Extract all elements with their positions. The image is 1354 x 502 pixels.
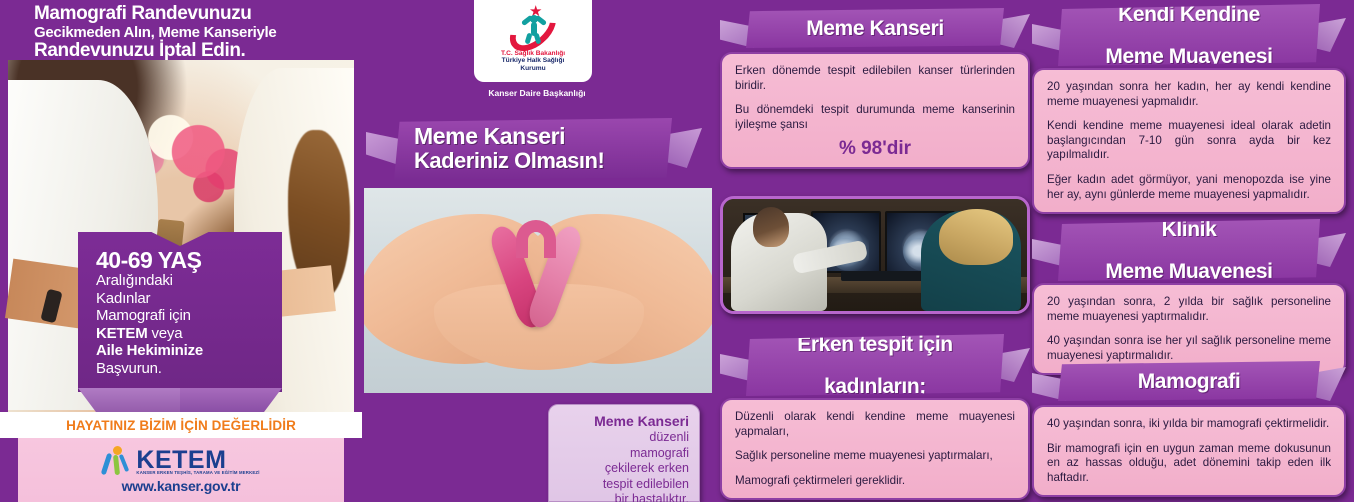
age-range-line-1: Aralığındaki xyxy=(96,272,282,290)
survival-rate-stat: % 98'dir xyxy=(735,142,1015,157)
card-title-line-1: Kendi Kendine xyxy=(1099,4,1278,25)
card-title: Erken tespit için kadınların; xyxy=(785,334,964,397)
brochure-canvas: Mamografi Randevunuzu Gecikmeden Alın, M… xyxy=(0,0,1354,502)
card-paragraph: 20 yaşından sonra her kadın, her ay kend… xyxy=(1047,80,1331,109)
card-title: Kendi Kendine Meme Muayenesi xyxy=(1093,4,1284,67)
ketem-logo-area: KETEM KANSER ERKEN TEŞHİS, TARAMA VE EĞİ… xyxy=(18,438,344,502)
card-body: 20 yaşından sonra her kadın, her ay kend… xyxy=(1032,68,1346,214)
headline-line-3: Randevunuzu İptal Edin. xyxy=(34,41,356,61)
card-paragraph: 20 yaşından sonra, 2 yılda bir sağlık pe… xyxy=(1047,295,1331,324)
card-title-line-1: Erken tespit için xyxy=(791,334,958,355)
center-note-line-2: mamografi xyxy=(559,446,689,462)
center-brochure-panel: T.C. Sağlık Bakanlığı Türkiye Halk Sağlı… xyxy=(362,0,712,502)
age-range-line-4: KETEM veya xyxy=(96,325,282,343)
slogan-text: HAYATINIZ BİZİM İÇİN DEĞERLİDİR xyxy=(66,418,296,433)
ministry-of-health-logo: T.C. Sağlık Bakanlığı Türkiye Halk Sağlı… xyxy=(474,0,592,82)
card-klinik: Klinik Meme Muayenesi 20 yaşından sonra,… xyxy=(1032,215,1346,375)
ketem-wordmark: KETEM xyxy=(136,448,259,472)
mammogram-review-photo xyxy=(720,196,1030,314)
card-paragraph: Mamografi çektirmeleri gereklidir. xyxy=(735,474,1015,489)
doctor-head xyxy=(753,207,789,247)
ministry-emblem-icon xyxy=(504,4,562,48)
center-note-title: Meme Kanseri xyxy=(559,413,689,430)
ketem-logo: KETEM KANSER ERKEN TEŞHİS, TARAMA VE EĞİ… xyxy=(102,446,259,476)
card-erken-tespit: Erken tespit için kadınların; Düzenli ol… xyxy=(720,330,1030,500)
center-note-line-1: düzenli xyxy=(559,430,689,446)
center-banner-line-2: Kaderiniz Olmasın! xyxy=(414,149,672,173)
center-note-card: Meme Kanseri düzenli mamografi çekilerek… xyxy=(548,404,700,502)
card-title: Mamografi xyxy=(1132,371,1247,392)
card-kendi-kendine: Kendi Kendine Meme Muayenesi 20 yaşından… xyxy=(1032,0,1346,214)
card-title: Klinik Meme Muayenesi xyxy=(1093,219,1284,282)
card-paragraph: Kendi kendine meme muayenesi ideal olara… xyxy=(1047,119,1331,163)
ministry-name-line-2b: Kurumu xyxy=(502,65,565,73)
left-brochure-panel: Mamografi Randevunuzu Gecikmeden Alın, M… xyxy=(0,0,362,502)
header-plate: Meme Kanseri xyxy=(746,8,1004,48)
ketem-subtitle: KANSER ERKEN TEŞHİS, TARAMA VE EĞİTİM ME… xyxy=(136,470,259,475)
mammogram-photo-wrap xyxy=(720,196,1030,314)
ribbon-loop xyxy=(516,220,556,258)
card-paragraph: Erken dönemde tespit edilebilen kanser t… xyxy=(735,64,1015,93)
header-plate: Erken tespit için kadınların; xyxy=(746,334,1004,396)
card-header-kendi-kendine: Kendi Kendine Meme Muayenesi xyxy=(1032,0,1346,66)
card-title-line-2: Meme Muayenesi xyxy=(1099,46,1278,67)
card-paragraph: Düzenli olarak kendi kendine meme muayen… xyxy=(735,410,1015,439)
ministry-name-line-2a: Türkiye Halk Sağlığı xyxy=(502,57,565,65)
card-meme-kanseri: Meme Kanseri Erken dönemde tespit edileb… xyxy=(720,4,1030,169)
center-note-line-5: bir hastalıktır. xyxy=(559,492,689,502)
ketem-keyword: KETEM xyxy=(96,325,148,342)
center-banner: Meme Kanseri Kaderiniz Olmasın! xyxy=(394,118,672,180)
pink-ribbon-icon xyxy=(498,224,574,334)
keyboard xyxy=(841,271,927,281)
right-brochure-panel: Meme Kanseri Erken dönemde tespit edileb… xyxy=(712,0,1354,502)
card-title-line-2: Meme Muayenesi xyxy=(1099,261,1278,282)
age-range-line-2: Kadınlar xyxy=(96,290,282,308)
card-title: Meme Kanseri xyxy=(800,18,950,39)
header-plate: Mamografi xyxy=(1058,361,1320,401)
card-paragraph: Bir mamografi için en uygun zaman meme d… xyxy=(1047,442,1331,486)
card-header-erken-tespit: Erken tespit için kadınların; xyxy=(720,330,1030,396)
card-paragraph: 40 yaşından sonra, iki yılda bir mamogra… xyxy=(1047,417,1331,432)
ministry-name-line-2: Türkiye Halk Sağlığı Kurumu xyxy=(502,57,565,73)
center-note-line-4: tespit edilebilen xyxy=(559,477,689,493)
card-body: 40 yaşından sonra, iki yılda bir mamogra… xyxy=(1032,405,1346,497)
age-range-value: 40-69 YAŞ xyxy=(96,248,282,272)
age-range-line-6: Başvurun. xyxy=(96,360,282,378)
slogan-bar: HAYATINIZ BİZİM İÇİN DEĞERLİDİR xyxy=(0,412,362,438)
card-body: Erken dönemde tespit edilebilen kanser t… xyxy=(720,52,1030,169)
ministry-department-caption: Kanser Daire Başkanlığı xyxy=(362,88,712,98)
age-range-callout: 40-69 YAŞ Aralığındaki Kadınlar Mamograf… xyxy=(78,232,282,392)
ketem-figure-icon xyxy=(102,446,132,476)
card-paragraph: Eğer kadın adet görmüyor, yani menopozda… xyxy=(1047,173,1331,202)
headline-line-1: Mamografi Randevunuzu xyxy=(34,4,356,24)
headline-line-2: Gecikmeden Alın, Meme Kanseriyle xyxy=(34,24,356,41)
card-body: Düzenli olarak kendi kendine meme muayen… xyxy=(720,398,1030,500)
age-range-line-5: Aile Hekiminize xyxy=(96,342,282,360)
ketem-stroke-blue-left xyxy=(101,453,113,475)
center-note-line-3: çekilerek erken xyxy=(559,461,689,477)
center-banner-line-1: Meme Kanseri xyxy=(414,124,672,149)
header-plate: Kendi Kendine Meme Muayenesi xyxy=(1058,4,1320,66)
card-title-line-2: kadınların; xyxy=(791,376,958,397)
card-paragraph: Sağlık personeline meme muayenesi yaptır… xyxy=(735,449,1015,464)
card-paragraph: Bu dönemdeki tespit durumunda meme kanse… xyxy=(735,103,1015,132)
card-header-klinik: Klinik Meme Muayenesi xyxy=(1032,215,1346,281)
age-range-line-4-rest: veya xyxy=(148,325,183,342)
patient-hair xyxy=(939,209,1013,265)
card-header-meme-kanseri: Meme Kanseri xyxy=(720,4,1030,50)
ketem-website-url[interactable]: www.kanser.gov.tr xyxy=(122,478,241,494)
header-plate: Klinik Meme Muayenesi xyxy=(1058,219,1320,281)
ketem-stroke-blue-right xyxy=(119,454,129,472)
age-range-line-3: Mamografi için xyxy=(96,307,282,325)
card-mamografi: Mamografi 40 yaşından sonra, iki yılda b… xyxy=(1032,357,1346,497)
card-header-mamografi: Mamografi xyxy=(1032,357,1346,403)
left-headline: Mamografi Randevunuzu Gecikmeden Alın, M… xyxy=(0,0,362,60)
card-title-line-1: Klinik xyxy=(1099,219,1278,240)
ministry-name-line-1: T.C. Sağlık Bakanlığı xyxy=(501,50,565,57)
